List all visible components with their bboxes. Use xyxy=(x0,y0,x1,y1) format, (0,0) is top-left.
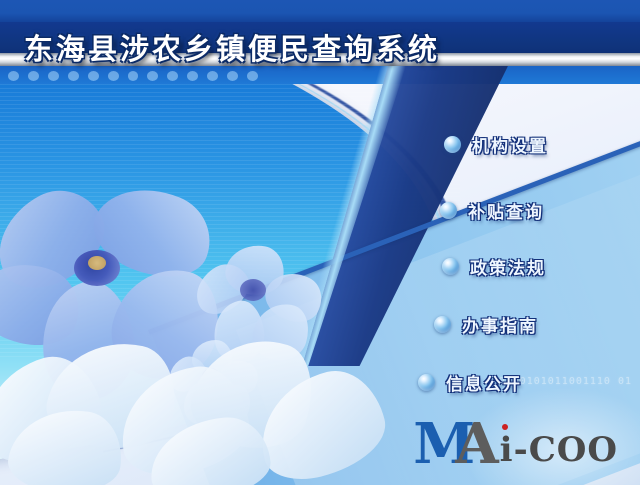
menu-item-label: 补贴查询 xyxy=(468,198,544,223)
menu-item-label: 政策法规 xyxy=(470,254,546,279)
menu-item-organization[interactable]: 机构设置 xyxy=(444,132,548,157)
logo-wordmark-text: i-COO xyxy=(500,430,618,470)
menu-item-label: 机构设置 xyxy=(472,132,548,157)
menu-item-subsidy-query[interactable]: 补贴查询 xyxy=(440,198,544,223)
blue-orb-bullet-icon xyxy=(442,258,459,275)
menu-item-policy-regulations[interactable]: 政策法规 xyxy=(442,254,546,279)
blue-orb-bullet-icon xyxy=(418,374,435,391)
logo-red-dot-icon xyxy=(502,424,508,430)
logo-wordmark: i-COO xyxy=(500,433,618,467)
brand-logo: M A i-COO xyxy=(413,423,618,467)
blue-orb-bullet-icon xyxy=(434,316,451,333)
logo-letter-a: A xyxy=(455,423,498,467)
pale-lily-cluster xyxy=(0,335,430,485)
menu-item-service-guide[interactable]: 办事指南 xyxy=(434,312,538,337)
page-title: 东海县涉农乡镇便民查询系统 xyxy=(24,26,440,68)
menu-item-label: 办事指南 xyxy=(462,312,538,337)
app-window: 东海县涉农乡镇便民查询系统 0100101011001110 01 机构设置 补… xyxy=(0,0,640,485)
header-dot-pattern xyxy=(8,69,258,83)
blue-orb-bullet-icon xyxy=(444,136,461,153)
blue-orb-bullet-icon xyxy=(440,202,457,219)
